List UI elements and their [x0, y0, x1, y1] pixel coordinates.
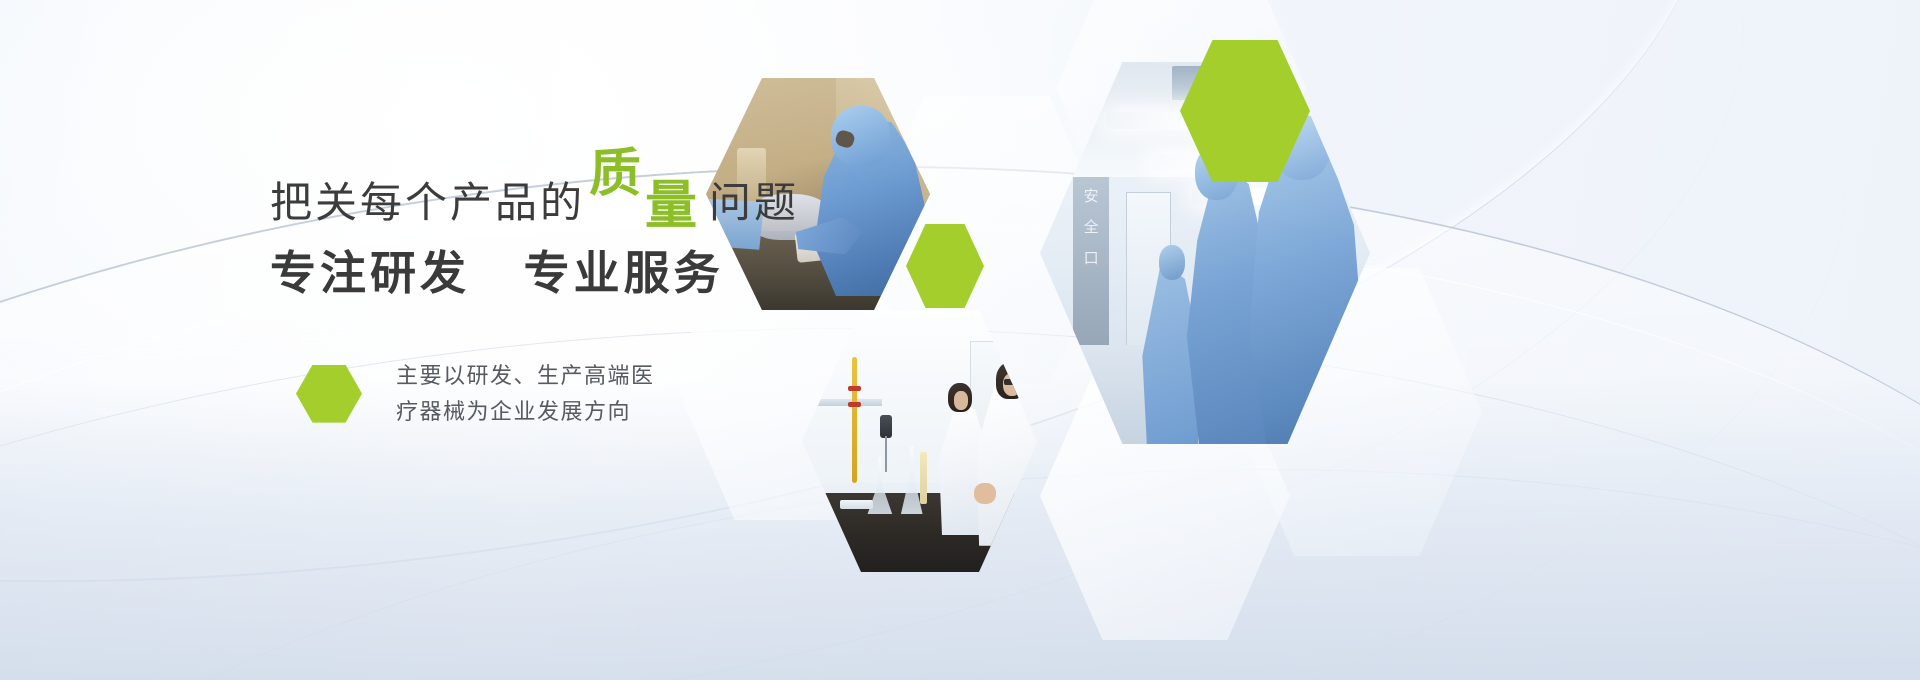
headline-accent: 质 量 — [589, 172, 699, 224]
tagline-line-2: 疗器械为企业发展方向 — [396, 394, 655, 430]
headline-block: 把关每个产品的 质 量 问题 专注研发 专业服务 — [270, 172, 1030, 296]
tagline-line-1: 主要以研发、生产高端医 — [396, 358, 655, 394]
subhead-part-2: 专业服务 — [524, 247, 724, 299]
headline-accent-char-2: 量 — [645, 180, 699, 232]
tagline-block: 主要以研发、生产高端医 疗器械为企业发展方向 — [296, 358, 655, 429]
headline-prefix: 把关每个产品的 — [270, 182, 585, 224]
headline-accent-char-1: 质 — [589, 148, 643, 200]
headline-suffix: 问题 — [709, 182, 799, 224]
hero-banner: 安 全 口 — [0, 0, 1920, 680]
hexagon-bullet-icon — [296, 365, 362, 423]
headline: 把关每个产品的 质 量 问题 — [270, 172, 1030, 224]
subhead-part-1: 专注研发 — [270, 247, 470, 299]
tagline-text: 主要以研发、生产高端医 疗器械为企业发展方向 — [396, 358, 655, 429]
subhead: 专注研发 专业服务 — [270, 250, 1030, 296]
